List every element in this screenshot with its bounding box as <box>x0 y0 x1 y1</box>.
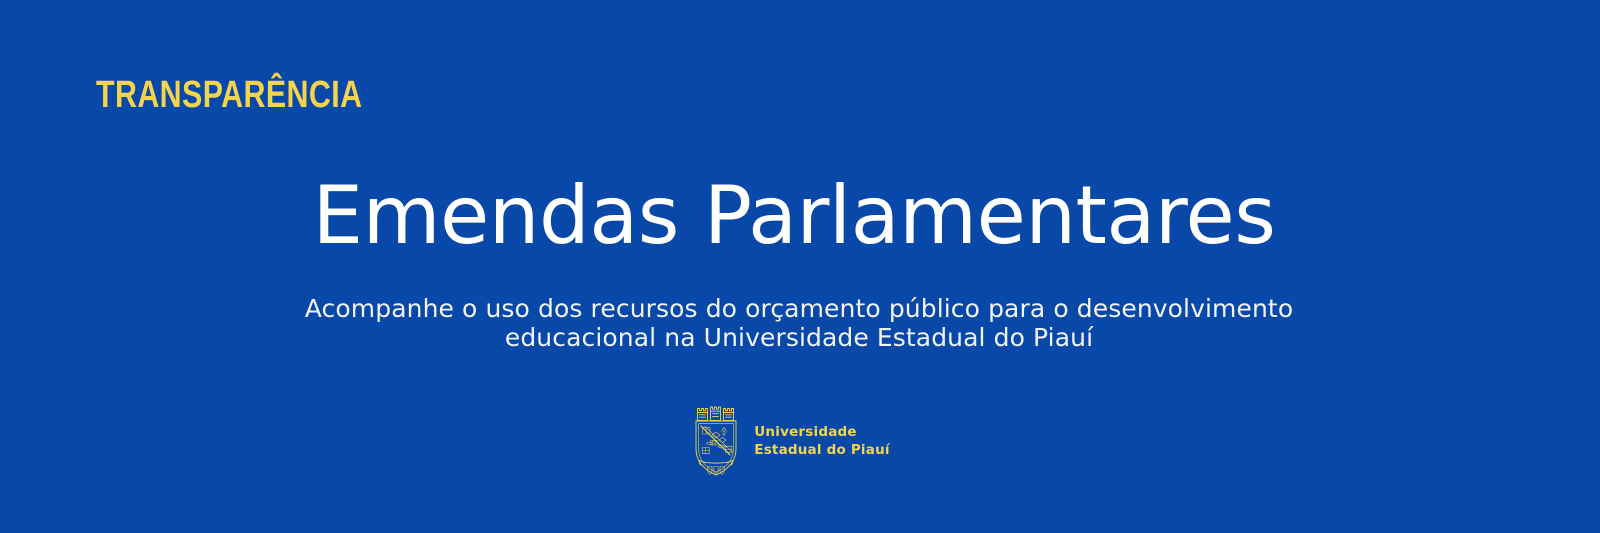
uespi-coat-of-arms-icon <box>688 399 744 483</box>
page-subtitle-line-2: educacional na Universidade Estadual do … <box>0 323 1599 352</box>
page-subtitle-line-1: Acompanhe o uso dos recursos do orçament… <box>0 294 1599 323</box>
university-name: Universidade Estadual do Piauí <box>754 423 889 459</box>
university-name-line-1: Universidade <box>754 423 889 441</box>
page-subtitle: Acompanhe o uso dos recursos do orçament… <box>0 294 1599 352</box>
page-title: Emendas Parlamentares <box>0 176 1594 256</box>
university-name-line-2: Estadual do Piauí <box>754 441 889 459</box>
university-logo-lockup: Universidade Estadual do Piauí <box>0 399 1589 483</box>
hero-content: Emendas Parlamentares Acompanhe o uso do… <box>0 0 1600 533</box>
transparency-hero-banner: TRANSPARÊNCIA Emendas Parlamentares Acom… <box>0 0 1600 533</box>
